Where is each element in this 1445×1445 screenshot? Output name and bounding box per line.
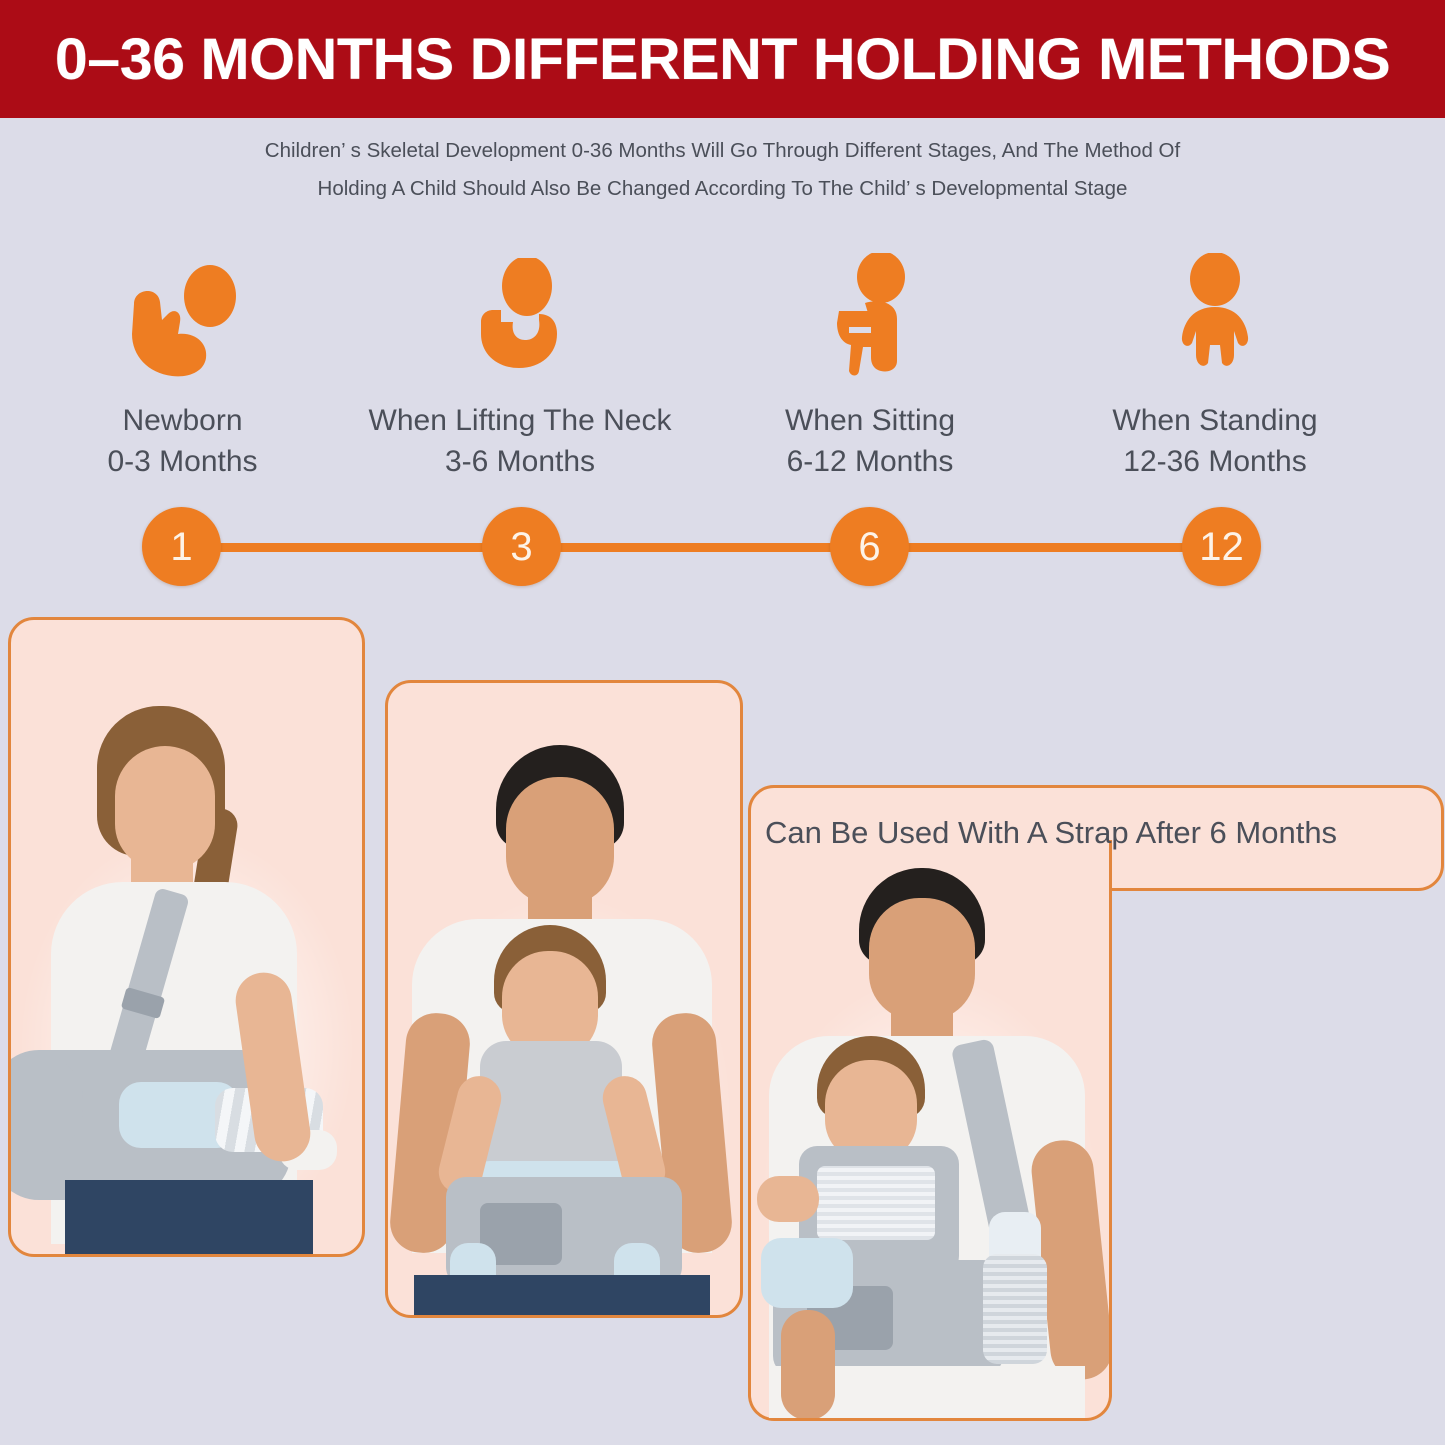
timeline-segment-6-12: [869, 543, 1221, 552]
stage-label-lifting-neck: When Lifting The Neck 3-6 Months: [369, 400, 672, 482]
mother-face: [115, 746, 215, 870]
baby-lying-icon: [118, 248, 248, 378]
mother-holding-newborn-in-carrier-photo: [11, 620, 362, 1254]
card-title-strap: Can Be Used With A Strap After 6 Months: [765, 815, 1337, 851]
stage-item-standing: When Standing 12-36 Months: [1065, 248, 1365, 482]
stage-label-standing: When Standing 12-36 Months: [1112, 400, 1317, 482]
carrier-head-support: [11, 1056, 83, 1152]
stage-title-lifting-neck: When Lifting The Neck: [369, 404, 672, 437]
stage-label-sitting: When Sitting 6-12 Months: [785, 400, 955, 482]
father-holding-baby-with-strap-photo: [751, 840, 1109, 1418]
stage-row: Newborn 0-3 Months When Lifting The Neck…: [0, 248, 1445, 488]
baby-standing-icon: [1150, 248, 1280, 378]
stage-title-newborn: Newborn: [122, 404, 242, 437]
carrier-mesh-panel: [817, 1166, 935, 1240]
timeline-node-12-label: 12: [1199, 527, 1244, 567]
timeline-node-3-label: 3: [510, 527, 532, 567]
subtitle-line-1: Children’ s Skeletal Development 0-36 Mo…: [0, 132, 1445, 170]
timeline-node-12[interactable]: 12: [1182, 507, 1261, 586]
photo-card-strap[interactable]: [748, 840, 1112, 1421]
timeline-node-1[interactable]: 1: [142, 507, 221, 586]
stage-age-standing: 12-36 Months: [1112, 441, 1317, 482]
stage-item-sitting: When Sitting 6-12 Months: [720, 248, 1020, 482]
stage-title-sitting: When Sitting: [785, 404, 955, 437]
father-face: [506, 777, 614, 905]
stage-item-newborn: Newborn 0-3 Months: [55, 248, 310, 482]
father-jeans: [414, 1275, 710, 1315]
stage-item-lifting-neck: When Lifting The Neck 3-6 Months: [335, 248, 705, 482]
father-face: [869, 898, 975, 1020]
timeline-segment-1-3: [181, 543, 521, 552]
baby-head-up-icon: [455, 248, 585, 378]
age-timeline: 1 3 6 12: [0, 507, 1445, 587]
baby-sitting-icon: [805, 248, 935, 378]
stage-title-standing: When Standing: [1112, 404, 1317, 437]
father-left-hand: [781, 1310, 835, 1418]
timeline-node-3[interactable]: 3: [482, 507, 561, 586]
stage-age-newborn: 0-3 Months: [107, 441, 257, 482]
timeline-segment-3-6: [521, 543, 869, 552]
father-holding-toddler-front-facing-photo: [388, 683, 740, 1315]
baby-shorts: [761, 1238, 853, 1308]
baby-left-hand: [757, 1176, 819, 1222]
mother-jeans: [65, 1180, 313, 1254]
page-title: 0–36 MONTHS DIFFERENT HOLDING METHODS: [55, 26, 1390, 93]
stage-age-lifting-neck: 3-6 Months: [369, 441, 672, 482]
stage-age-sitting: 6-12 Months: [785, 441, 955, 482]
timeline-node-1-label: 1: [170, 527, 192, 567]
photo-card-hold-neck[interactable]: Hold The Neck Vertically (3-6 Months): [385, 680, 743, 1318]
timeline-node-6[interactable]: 6: [830, 507, 909, 586]
stage-label-newborn: Newborn 0-3 Months: [107, 400, 257, 482]
timeline-node-6-label: 6: [858, 527, 880, 567]
photo-card-newborn[interactable]: Newborn Baby: [8, 617, 365, 1257]
carrier-side-mesh-pocket: [983, 1254, 1047, 1364]
subtitle-block: Children’ s Skeletal Development 0-36 Mo…: [0, 132, 1445, 208]
header-banner: 0–36 MONTHS DIFFERENT HOLDING METHODS: [0, 0, 1445, 118]
subtitle-line-2: Holding A Child Should Also Be Changed A…: [0, 170, 1445, 208]
